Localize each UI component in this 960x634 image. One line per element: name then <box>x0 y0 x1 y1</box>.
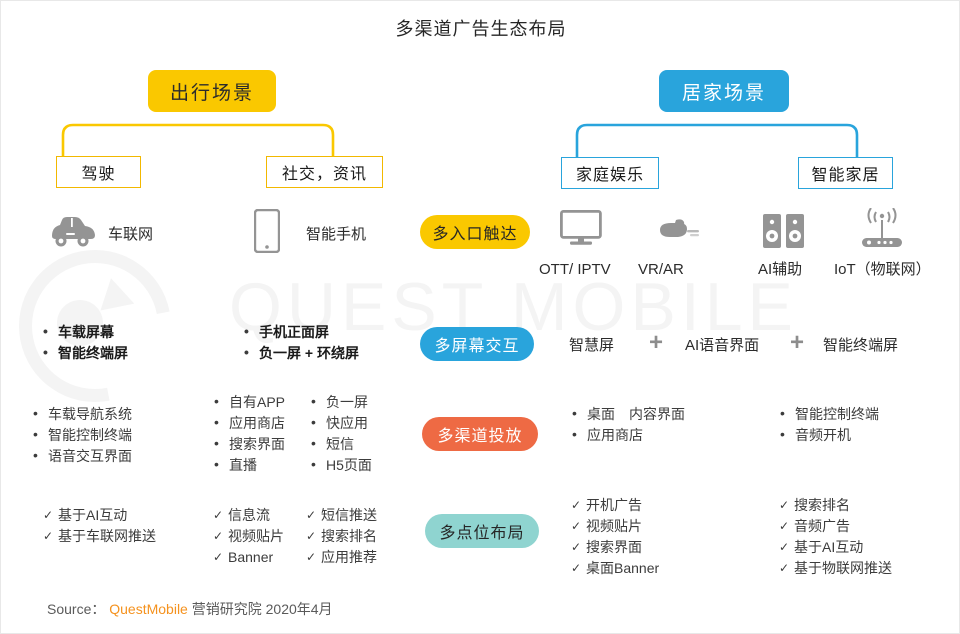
list-item: 搜索界面 <box>571 537 659 558</box>
list-item: 桌面Banner <box>571 558 659 579</box>
channel-list-smarthome: 智能控制终端 音频开机 <box>780 404 879 446</box>
list-item: 应用商店 <box>572 425 685 446</box>
row-pill-screen[interactable]: 多屏幕交互 <box>420 327 534 361</box>
list-item: 视频贴片 <box>571 516 659 537</box>
category-box-social[interactable]: 社交，资讯 <box>266 156 383 188</box>
row-pill-entry[interactable]: 多入口触达 <box>420 215 530 249</box>
list-item: 智能控制终端 <box>33 425 132 446</box>
watermark-arrow-icon <box>100 278 139 320</box>
list-item: 基于AI互动 <box>779 537 892 558</box>
entry-label-phone: 智能手机 <box>306 224 366 245</box>
entry-label-vr: VR/AR <box>638 259 684 280</box>
list-item: 短信 <box>311 434 372 455</box>
list-item: 音频广告 <box>779 516 892 537</box>
source-prefix: Source： <box>47 601 105 617</box>
list-item: 音频开机 <box>780 425 879 446</box>
list-item: 直播 <box>214 455 285 476</box>
list-item: 桌面 内容界面 <box>572 404 685 425</box>
scene-pill-travel[interactable]: 出行场景 <box>148 70 276 112</box>
placement-list-social-col2: 短信推送 搜索排名 应用推荐 <box>306 505 377 568</box>
list-item: 视频贴片 <box>213 526 284 547</box>
list-item: 智能终端屏 <box>43 343 128 364</box>
speaker-icon <box>762 213 806 254</box>
list-item: 搜索排名 <box>306 526 377 547</box>
source-line: Source： QuestMobile 营销研究院 2020年4月 <box>47 599 333 619</box>
entry-label-iot: IoT（物联网） <box>834 259 931 280</box>
entry-label-ott: OTT/ IPTV <box>539 259 611 280</box>
list-item: H5页面 <box>311 455 372 476</box>
row-pill-channel[interactable]: 多渠道投放 <box>422 417 538 451</box>
channel-list-driving: 车载导航系统 智能控制终端 语音交互界面 <box>33 404 132 467</box>
list-item: 基于物联网推送 <box>779 558 892 579</box>
questmobile-watermark: QUEST MOBILE <box>1 256 960 386</box>
list-item: 搜索排名 <box>779 495 892 516</box>
list-item: 语音交互界面 <box>33 446 132 467</box>
monitor-icon <box>560 210 602 251</box>
list-item: 车载屏幕 <box>43 322 128 343</box>
placement-list-social-col1: 信息流 视频贴片 Banner <box>213 505 284 568</box>
list-item: 负一屏 <box>311 392 372 413</box>
row-pill-placement[interactable]: 多点位布局 <box>425 514 539 548</box>
list-item: 短信推送 <box>306 505 377 526</box>
plus-icon-1: + <box>649 331 663 355</box>
list-item: 基于车联网推送 <box>43 526 156 547</box>
screen-list-driving: 车载屏幕 智能终端屏 <box>43 322 128 364</box>
list-item: 基于AI互动 <box>43 505 156 526</box>
smartphone-icon <box>254 209 280 258</box>
list-item: 应用推荐 <box>306 547 377 568</box>
list-item: 信息流 <box>213 505 284 526</box>
channel-list-entertainment: 桌面 内容界面 应用商店 <box>572 404 685 446</box>
list-item: 负一屏 + 环绕屏 <box>244 343 359 364</box>
page-title: 多渠道广告生态布局 <box>1 15 960 41</box>
screen-chain-item-1: 智慧屏 <box>569 335 614 356</box>
list-item: 开机广告 <box>571 495 659 516</box>
channel-list-social-col2: 负一屏 快应用 短信 H5页面 <box>311 392 372 476</box>
router-icon <box>857 208 907 255</box>
list-item: 应用商店 <box>214 413 285 434</box>
infographic-page: QUEST MOBILE 多渠道广告生态布局 出行场景 居家场景 驾驶 社交，资… <box>0 0 960 634</box>
placement-list-smarthome: 搜索排名 音频广告 基于AI互动 基于物联网推送 <box>779 495 892 579</box>
list-item: 智能控制终端 <box>780 404 879 425</box>
category-box-smarthome[interactable]: 智能家居 <box>798 157 893 189</box>
list-item: 车载导航系统 <box>33 404 132 425</box>
screen-list-social: 手机正面屏 负一屏 + 环绕屏 <box>244 322 359 364</box>
list-item: 手机正面屏 <box>244 322 359 343</box>
plus-icon-2: + <box>790 331 804 355</box>
entry-label-car: 车联网 <box>108 224 153 245</box>
entry-label-ai: AI辅助 <box>758 259 802 280</box>
source-brand: QuestMobile <box>109 601 188 617</box>
screen-chain-item-2: AI语音界面 <box>685 335 759 356</box>
placement-list-entertainment: 开机广告 视频贴片 搜索界面 桌面Banner <box>571 495 659 579</box>
list-item: 快应用 <box>311 413 372 434</box>
screen-chain-item-3: 智能终端屏 <box>823 335 898 356</box>
scene-pill-home[interactable]: 居家场景 <box>659 70 789 112</box>
list-item: Banner <box>213 547 284 568</box>
car-icon <box>46 214 100 253</box>
list-item: 搜索界面 <box>214 434 285 455</box>
channel-list-social-col1: 自有APP 应用商店 搜索界面 直播 <box>214 392 285 476</box>
category-box-entertainment[interactable]: 家庭娱乐 <box>561 157 659 189</box>
list-item: 自有APP <box>214 392 285 413</box>
category-box-driving[interactable]: 驾驶 <box>56 156 141 188</box>
placement-list-driving: 基于AI互动 基于车联网推送 <box>43 505 156 547</box>
source-suffix: 营销研究院 2020年4月 <box>192 601 333 617</box>
vr-headset-icon <box>656 217 704 248</box>
